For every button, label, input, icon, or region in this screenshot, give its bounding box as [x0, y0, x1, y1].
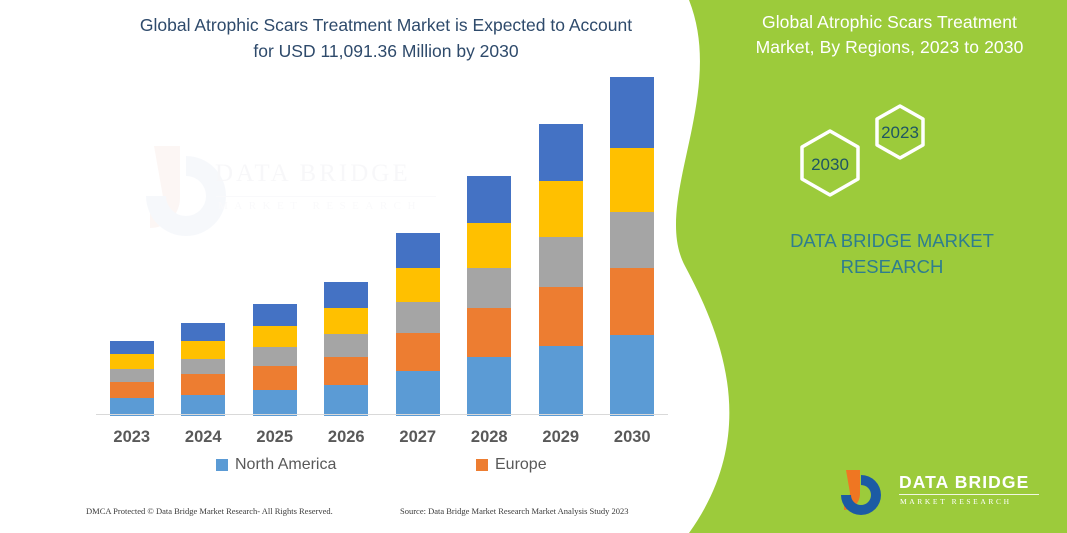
- brand-logo-subtitle: MARKET RESEARCH: [900, 497, 1012, 506]
- page-title-line1: Global Atrophic Scars Treatment Market i…: [96, 12, 676, 38]
- brand-logo: DATA BRIDGE MARKET RESEARCH: [839, 468, 1054, 520]
- bar-segment: [610, 335, 654, 416]
- bar-segment: [610, 148, 654, 212]
- bar-segment: [539, 124, 583, 181]
- panel-title: Global Atrophic Scars Treatment Market, …: [727, 10, 1052, 60]
- bar-segment: [396, 302, 440, 333]
- x-axis-label-2030: 2030: [596, 428, 668, 447]
- bar-segment: [396, 233, 440, 267]
- bar-segment: [396, 333, 440, 371]
- panel-title-line1: Global Atrophic Scars Treatment: [727, 10, 1052, 35]
- x-axis-label-2026: 2026: [310, 428, 382, 447]
- x-axis-label-2028: 2028: [453, 428, 525, 447]
- x-axis-label-2027: 2027: [382, 428, 454, 447]
- legend-item-north-america[interactable]: North America: [216, 456, 336, 474]
- brand-logo-title: DATA BRIDGE: [899, 472, 1029, 493]
- legend-label: Europe: [495, 456, 547, 474]
- bar-segment: [253, 390, 297, 416]
- x-axis-label-2025: 2025: [239, 428, 311, 447]
- hexagon-badge-2030-label: 2030: [811, 155, 849, 174]
- brand-logo-divider: [899, 494, 1039, 495]
- bar-segment: [467, 357, 511, 416]
- x-axis-label-2029: 2029: [525, 428, 597, 447]
- hexagon-badge-2030: 2030: [802, 131, 858, 195]
- bar-segment: [324, 282, 368, 308]
- bar-segment: [539, 181, 583, 237]
- stacked-bar-chart: [96, 60, 668, 416]
- bar-segment: [539, 346, 583, 416]
- bar-segment: [396, 371, 440, 416]
- bar-segment: [110, 369, 154, 382]
- footer: DMCA Protected © Data Bridge Market Rese…: [0, 506, 690, 528]
- bar-segment: [467, 268, 511, 308]
- x-axis-label-2023: 2023: [96, 428, 168, 447]
- bar-segment: [110, 354, 154, 368]
- bar-segment: [253, 326, 297, 347]
- bar-2028: [467, 176, 511, 416]
- panel-brand-line2: RESEARCH: [727, 254, 1057, 280]
- x-axis-labels: 20232024202520262027202820292030: [96, 428, 668, 454]
- bar-segment: [324, 385, 368, 416]
- bar-segment: [610, 268, 654, 336]
- chart-legend: North AmericaEurope: [96, 456, 668, 480]
- bar-2024: [181, 323, 225, 416]
- panel-brand-line1: DATA BRIDGE MARKET: [727, 228, 1057, 254]
- legend-swatch-icon: [476, 459, 488, 471]
- hexagon-badge-2023-label: 2023: [881, 123, 919, 142]
- page-title: Global Atrophic Scars Treatment Market i…: [96, 12, 676, 64]
- panel-brand: DATA BRIDGE MARKET RESEARCH: [727, 228, 1057, 280]
- right-panel: Global Atrophic Scars Treatment Market, …: [667, 0, 1067, 533]
- bar-segment: [324, 357, 368, 385]
- bar-segment: [253, 304, 297, 325]
- bar-2030: [610, 77, 654, 416]
- bar-segment: [181, 374, 225, 394]
- infographic-root: Global Atrophic Scars Treatment Market i…: [0, 0, 1067, 533]
- footer-copyright: DMCA Protected © Data Bridge Market Rese…: [86, 506, 333, 516]
- bar-segment: [539, 287, 583, 346]
- bar-segment: [181, 359, 225, 374]
- x-axis-label-2024: 2024: [167, 428, 239, 447]
- bar-2029: [539, 124, 583, 416]
- footer-source: Source: Data Bridge Market Research Mark…: [400, 506, 629, 516]
- x-axis-line: [96, 414, 668, 415]
- bar-segment: [324, 334, 368, 357]
- bar-2023: [110, 341, 154, 416]
- hexagon-badges: 2023 2030: [772, 85, 972, 205]
- bar-segment: [539, 237, 583, 287]
- bar-segment: [181, 341, 225, 359]
- bar-2025: [253, 304, 297, 416]
- bar-segment: [467, 176, 511, 222]
- legend-label: North America: [235, 456, 336, 474]
- legend-item-europe[interactable]: Europe: [476, 456, 547, 474]
- legend-swatch-icon: [216, 459, 228, 471]
- hexagon-badge-2023: 2023: [877, 106, 923, 158]
- bar-2027: [396, 233, 440, 416]
- bar-segment: [467, 223, 511, 268]
- bar-segment: [110, 382, 154, 399]
- bar-segment: [467, 308, 511, 357]
- bar-segment: [181, 395, 225, 416]
- bar-segment: [324, 308, 368, 334]
- bar-segment: [181, 323, 225, 341]
- bar-segment: [253, 347, 297, 366]
- bar-2026: [324, 282, 368, 416]
- bar-segment: [610, 77, 654, 148]
- bar-segment: [610, 212, 654, 268]
- panel-title-line2: Market, By Regions, 2023 to 2030: [727, 35, 1052, 60]
- bar-segment: [253, 366, 297, 390]
- bar-segment: [110, 341, 154, 354]
- bar-segment: [396, 268, 440, 302]
- data-bridge-logo-icon: [839, 468, 891, 516]
